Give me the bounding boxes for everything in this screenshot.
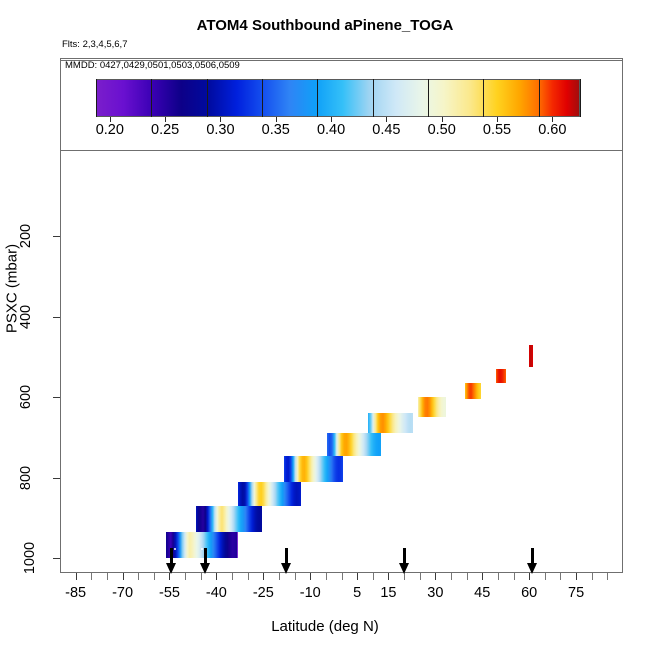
arrow-head-icon [166, 563, 176, 574]
arrow-head-icon [527, 563, 537, 574]
leg-arrow-marker [166, 548, 177, 574]
x-axis-minor-tick [138, 573, 139, 580]
x-axis-tick-label: -25 [253, 585, 274, 601]
x-axis-minor-tick [514, 573, 515, 580]
y-axis-tick [53, 558, 60, 559]
x-axis-tick-label: 5 [353, 585, 361, 601]
leg-arrow-marker [527, 548, 538, 574]
y-axis-tick-label: 600 [18, 385, 34, 409]
x-axis-tick-label: 30 [427, 585, 443, 601]
x-axis-minor-tick [451, 573, 452, 580]
y-axis-tick-label: 400 [18, 304, 34, 328]
x-axis-minor-tick [185, 573, 186, 580]
y-axis-tick [53, 236, 60, 237]
y-axis-tick [53, 478, 60, 479]
y-axis-tick-label: 800 [18, 465, 34, 489]
leg-arrow-marker [281, 548, 292, 574]
plot-frame [60, 60, 623, 573]
x-axis-minor-tick [607, 573, 608, 580]
x-axis-tick [263, 573, 264, 580]
x-axis-minor-tick [592, 573, 593, 580]
x-axis-tick-label: -55 [159, 585, 180, 601]
x-axis-title: Latitude (deg N) [0, 618, 650, 635]
x-axis-tick [529, 573, 530, 580]
x-axis-minor-tick [498, 573, 499, 580]
x-axis-tick [576, 573, 577, 580]
x-axis-tick [123, 573, 124, 580]
x-axis-minor-tick [279, 573, 280, 580]
x-axis-minor-tick [560, 573, 561, 580]
x-axis-tick [216, 573, 217, 580]
x-axis-minor-tick [201, 573, 202, 580]
x-axis-minor-tick [248, 573, 249, 580]
x-axis-minor-tick [232, 573, 233, 580]
x-axis-minor-tick [295, 573, 296, 580]
x-axis-minor-tick [154, 573, 155, 580]
x-axis-tick [435, 573, 436, 580]
x-axis-tick [169, 573, 170, 580]
page-title: ATOM4 Southbound aPinene_TOGA [0, 17, 650, 34]
x-axis-tick-label: 60 [521, 585, 537, 601]
x-axis-minor-tick [373, 573, 374, 580]
leg-arrow-marker [399, 548, 410, 574]
x-axis-minor-tick [545, 573, 546, 580]
x-axis-tick-label: -10 [300, 585, 321, 601]
x-axis-minor-tick [467, 573, 468, 580]
flights-label: Flts: 2,3,4,5,6,7 [62, 39, 127, 50]
x-axis-tick-label: 15 [380, 585, 396, 601]
x-axis-minor-tick [420, 573, 421, 580]
x-axis-minor-tick [404, 573, 405, 580]
x-axis-minor-tick [107, 573, 108, 580]
y-axis-tick [53, 397, 60, 398]
y-axis-tick-label: 200 [18, 224, 34, 248]
x-axis-minor-tick [91, 573, 92, 580]
x-axis-tick-label: -70 [112, 585, 133, 601]
x-axis-tick [310, 573, 311, 580]
plot-canvas: ATOM4 Southbound aPinene_TOGA Flts: 2,3,… [0, 0, 650, 650]
y-axis-title: PSXC (mbar) [4, 174, 21, 404]
x-axis-minor-tick [342, 573, 343, 580]
arrow-head-icon [281, 563, 291, 574]
x-axis-tick-label: 75 [568, 585, 584, 601]
x-axis-tick [388, 573, 389, 580]
y-axis-tick [53, 317, 60, 318]
x-axis-tick-label: 45 [474, 585, 490, 601]
x-axis-tick [357, 573, 358, 580]
x-axis-tick-label: -85 [65, 585, 86, 601]
arrow-head-icon [399, 563, 409, 574]
leg-arrow-marker [200, 548, 211, 574]
x-axis-tick-label: -40 [206, 585, 227, 601]
x-axis-tick [76, 573, 77, 580]
y-axis-tick-label: 1000 [22, 542, 38, 574]
x-axis-minor-tick [326, 573, 327, 580]
x-axis-tick [482, 573, 483, 580]
arrow-head-icon [200, 563, 210, 574]
